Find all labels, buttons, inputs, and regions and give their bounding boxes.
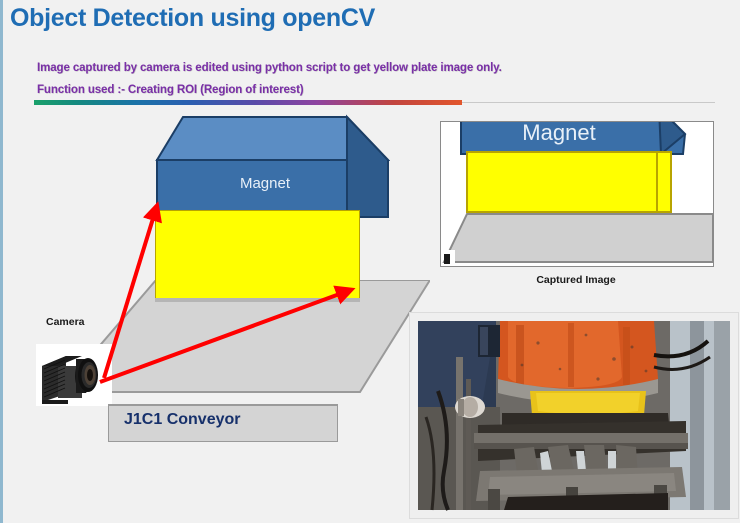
arrow-camera-to-magnet [104,212,155,378]
slide-canvas: Object Detection using openCV Image capt… [0,0,740,523]
main-diagram: Magnet Camera [0,0,430,523]
captured-image-caption: Captured Image [440,274,712,286]
svg-text:Magnet: Magnet [522,122,595,145]
thin-divider [462,102,715,103]
industrial-photo [409,312,739,519]
camera-sight-arrows [0,0,430,523]
industrial-photo-content [410,313,738,518]
captured-image-panel: Magnet [440,121,714,267]
conveyor-label: J1C1 Conveyor [124,411,241,429]
captured-image-content: Magnet [441,122,713,266]
arrow-camera-to-plate [100,292,345,382]
